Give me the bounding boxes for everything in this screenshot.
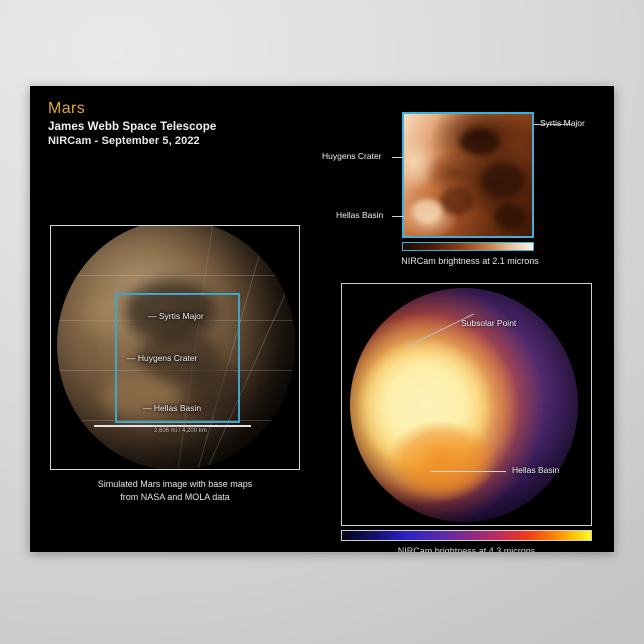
mars-jwst-poster: Mars James Webb Space Telescope NIRCam -… <box>30 86 614 552</box>
label-subsolar-point: Subsolar Point <box>461 318 516 328</box>
label-hellas-basin: — Hellas Basin <box>143 403 201 413</box>
label-huygens-crater: — Huygens Crater <box>127 353 197 363</box>
telescope-subtitle: James Webb Space Telescope <box>48 121 216 133</box>
instrument-date: NIRCam - September 5, 2022 <box>48 135 216 147</box>
label-hellas-basin: Hellas Basin <box>512 465 559 475</box>
simulated-mars-caption: Simulated Mars image with base maps from… <box>50 478 300 504</box>
leader-huygens-crater <box>392 157 404 158</box>
label-hellas-basin: Hellas Basin <box>336 210 383 220</box>
nircam-2p1-micron-image <box>404 114 532 236</box>
nircam-2p1-micron-panel <box>402 112 534 238</box>
nircam-2p1-caption: NIRCam brightness at 2.1 microns <box>375 256 565 266</box>
simulated-mars-panel: — Syrtis Major — Huygens Crater — Hellas… <box>50 225 300 470</box>
leader-hellas-basin <box>430 471 506 472</box>
page-title: Mars <box>48 100 216 118</box>
nircam-4p3-micron-panel: Subsolar Point Hellas Basin <box>341 283 592 526</box>
scale-bar <box>94 425 251 427</box>
nircam-4p3-colorbar <box>341 530 592 541</box>
caption-line-2: from NASA and MOLA data <box>50 491 300 504</box>
nircam-4p3-caption: NIRCam brightness at 4.3 microns <box>341 546 592 552</box>
leader-hellas-basin <box>392 216 404 217</box>
poster-header: Mars James Webb Space Telescope NIRCam -… <box>48 100 216 147</box>
label-huygens-crater: Huygens Crater <box>322 151 382 161</box>
nircam-2p1-colorbar <box>402 242 534 251</box>
label-syrtis-major: — Syrtis Major <box>148 311 204 321</box>
label-syrtis-major: Syrtis Major <box>540 118 585 128</box>
caption-line-1: Simulated Mars image with base maps <box>50 478 300 491</box>
scale-bar-label: 2,606 mi / 4,200 km <box>154 428 207 434</box>
